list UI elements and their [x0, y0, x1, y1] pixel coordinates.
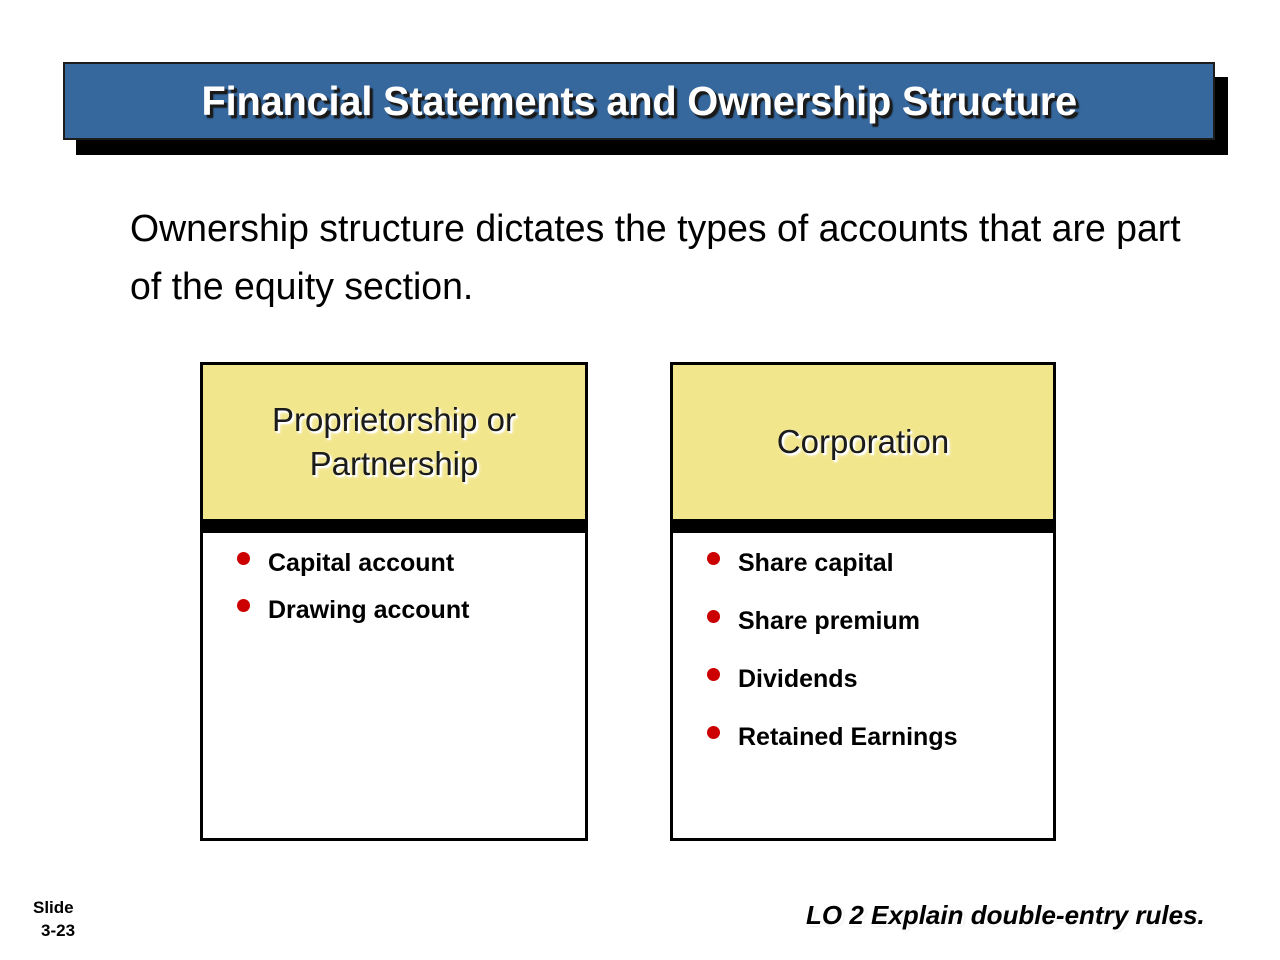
red-dot-icon — [707, 610, 720, 623]
red-dot-icon — [707, 668, 720, 681]
intro-paragraph: Ownership structure dictates the types o… — [130, 200, 1184, 316]
card-header-label: Corporation — [767, 420, 959, 464]
list-item: Share capital — [673, 549, 1053, 607]
slide-number-value: 3-23 — [33, 919, 75, 942]
list-item-label: Drawing account — [268, 596, 469, 625]
list-item-label: Retained Earnings — [738, 723, 958, 752]
card-header-label: Proprietorship or Partnership — [203, 398, 585, 486]
page-title: Financial Statements and Ownership Struc… — [201, 78, 1076, 125]
slide-number: Slide 3-23 — [33, 896, 75, 942]
list-item-label: Share premium — [738, 607, 920, 636]
card-body-corporation: Share capital Share premium Dividends Re… — [670, 533, 1056, 841]
title-banner-box: Financial Statements and Ownership Struc… — [63, 62, 1215, 140]
card-divider — [200, 519, 588, 533]
list-item-label: Share capital — [738, 549, 894, 578]
list-item: Retained Earnings — [673, 723, 1053, 781]
red-dot-icon — [237, 599, 250, 612]
learning-objective: LO 2 Explain double-entry rules. — [806, 900, 1205, 931]
card-body-proprietorship-partnership: Capital account Drawing account — [200, 533, 588, 841]
list-item: Share premium — [673, 607, 1053, 665]
list-item: Capital account — [203, 549, 585, 596]
card-header-corporation: Corporation — [670, 362, 1056, 519]
red-dot-icon — [237, 552, 250, 565]
card-header-proprietorship-partnership: Proprietorship or Partnership — [200, 362, 588, 519]
slide-title-banner: Financial Statements and Ownership Struc… — [63, 62, 1215, 140]
list-item-label: Capital account — [268, 549, 454, 578]
red-dot-icon — [707, 552, 720, 565]
card-proprietorship-partnership: Proprietorship or Partnership Capital ac… — [200, 362, 588, 841]
red-dot-icon — [707, 726, 720, 739]
list-item-label: Dividends — [738, 665, 857, 694]
bullet-list-proprietorship-partnership: Capital account Drawing account — [203, 549, 585, 643]
list-item: Dividends — [673, 665, 1053, 723]
card-divider — [670, 519, 1056, 533]
list-item: Drawing account — [203, 596, 585, 643]
slide-number-label: Slide — [33, 896, 75, 919]
card-corporation: Corporation Share capital Share premium … — [670, 362, 1056, 841]
bullet-list-corporation: Share capital Share premium Dividends Re… — [673, 549, 1053, 781]
